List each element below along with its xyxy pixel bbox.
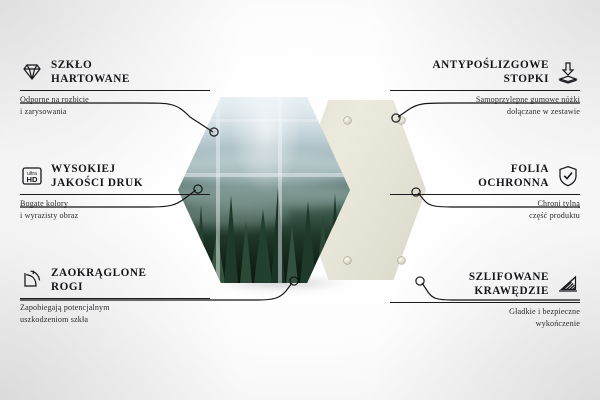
divider-line (20, 194, 210, 195)
infographic-canvas: SZKŁO HARTOWANE Odporne na rozbicie i za… (0, 0, 600, 400)
divider-line (390, 302, 580, 303)
feature-subtitle: Samoprzylepne gumowe nóżki dołączane w z… (390, 94, 580, 117)
ultra-hd-badge-icon: ultra HD (20, 164, 44, 188)
polished-edge-icon (556, 272, 580, 296)
feature-subtitle: Bogate kolory i wyrazisty obraz (20, 198, 210, 221)
feature-title: ZAOKRĄGLONE ROGI (51, 266, 147, 295)
feature-polished-edges: SZLIFOWANE KRAWĘDZIE Gładkie i bezpieczn… (390, 270, 580, 329)
shield-check-icon (556, 164, 580, 188)
feature-subtitle: Chroni tylną część produktu (390, 198, 580, 221)
feature-title: ANTYPOŚLIZGOWE STOPKI (433, 58, 550, 87)
feature-title: SZKŁO HARTOWANE (51, 58, 130, 87)
svg-text:HD: HD (27, 175, 38, 184)
light-glow (230, 97, 302, 194)
feature-title: WYSOKIEJ JAKOŚCI DRUK (51, 162, 143, 191)
anti-slip-foot-icon (556, 60, 580, 84)
anti-slip-foot (398, 257, 405, 264)
anti-slip-foot (398, 117, 405, 124)
divider-line (20, 298, 210, 299)
rounded-corner-icon (20, 268, 44, 292)
feature-subtitle: Gładkie i bezpieczne wykończenie (390, 306, 580, 329)
feature-anti-slip-feet: ANTYPOŚLIZGOWE STOPKI Samoprzylepne gumo… (390, 58, 580, 117)
anti-slip-foot (344, 257, 351, 264)
divider-line (390, 194, 580, 195)
feature-subtitle: Odporne na rozbicie i zarysowania (20, 94, 210, 117)
feature-tempered-glass: SZKŁO HARTOWANE Odporne na rozbicie i za… (20, 58, 210, 117)
anti-slip-foot (344, 117, 351, 124)
feature-protective-film: FOLIA OCHRONNA Chroni tylną część produk… (390, 162, 580, 221)
feature-subtitle: Zapobiegają potencjalnym uszkodzeniom sz… (20, 302, 210, 325)
feature-print-quality: ultra HD WYSOKIEJ JAKOŚCI DRUK Bogate ko… (20, 162, 210, 221)
feature-rounded-corners: ZAOKRĄGLONE ROGI Zapobiegają potencjalny… (20, 266, 210, 325)
divider-line (390, 90, 580, 91)
divider-line (20, 90, 210, 91)
feature-title: FOLIA OCHRONNA (478, 162, 549, 191)
diamond-icon (20, 60, 44, 84)
feature-title: SZLIFOWANE KRAWĘDZIE (469, 270, 549, 299)
